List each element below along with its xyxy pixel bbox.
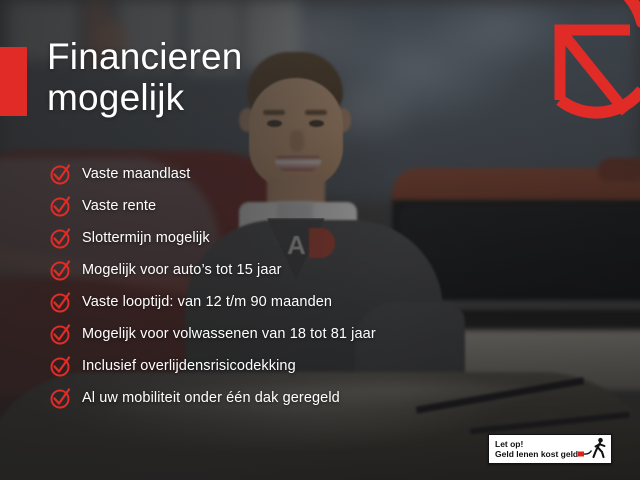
red-accent-block — [0, 47, 27, 116]
list-item: Inclusief overlijdensrisicodekking — [48, 350, 376, 382]
disclaimer-text: Let op! Geld lenen kost geld — [495, 439, 578, 460]
list-item: Mogelijk voor volwassenen van 18 tot 81 … — [48, 318, 376, 350]
disclaimer-line-2: Geld lenen kost geld — [495, 449, 578, 460]
list-item: Vaste rente — [48, 190, 376, 222]
list-item: Mogelijk voor auto’s tot 15 jaar — [48, 254, 376, 286]
list-item-label: Slottermijn mogelijk — [82, 230, 210, 246]
check-circle-icon — [48, 289, 74, 315]
list-item-label: Mogelijk voor volwassenen van 18 tot 81 … — [82, 326, 376, 342]
check-circle-icon — [48, 225, 74, 251]
circular-arrow-icon — [530, 0, 640, 122]
list-item-label: Vaste rente — [82, 198, 156, 214]
list-item: Al uw mobiliteit onder één dak geregeld — [48, 382, 376, 414]
list-item: Vaste maandlast — [48, 158, 376, 190]
disclaimer-line-1: Let op! — [495, 439, 578, 449]
feature-list: Vaste maandlast Vaste rente Slottermijn … — [48, 158, 376, 414]
headline-line-2: mogelijk — [47, 77, 377, 118]
list-item: Slottermijn mogelijk — [48, 222, 376, 254]
list-item-label: Inclusief overlijdensrisicodekking — [82, 358, 296, 374]
check-circle-icon — [48, 385, 74, 411]
check-circle-icon — [48, 161, 74, 187]
list-item-label: Vaste maandlast — [82, 166, 190, 182]
headline-line-1: Financieren — [47, 36, 377, 77]
status-badge: Let op! Geld lenen kost geld — [488, 434, 612, 464]
promo-banner: A Financieren mogelijk — [0, 0, 640, 480]
page-title: Financieren mogelijk — [47, 36, 377, 118]
list-item-label: Vaste looptijd: van 12 t/m 90 maanden — [82, 294, 332, 310]
check-circle-icon — [48, 193, 74, 219]
list-item: Vaste looptijd: van 12 t/m 90 maanden — [48, 286, 376, 318]
walking-person-warning-icon — [578, 436, 608, 462]
list-item-label: Al uw mobiliteit onder één dak geregeld — [82, 390, 340, 406]
check-circle-icon — [48, 353, 74, 379]
list-item-label: Mogelijk voor auto’s tot 15 jaar — [82, 262, 282, 278]
check-circle-icon — [48, 257, 74, 283]
check-circle-icon — [48, 321, 74, 347]
